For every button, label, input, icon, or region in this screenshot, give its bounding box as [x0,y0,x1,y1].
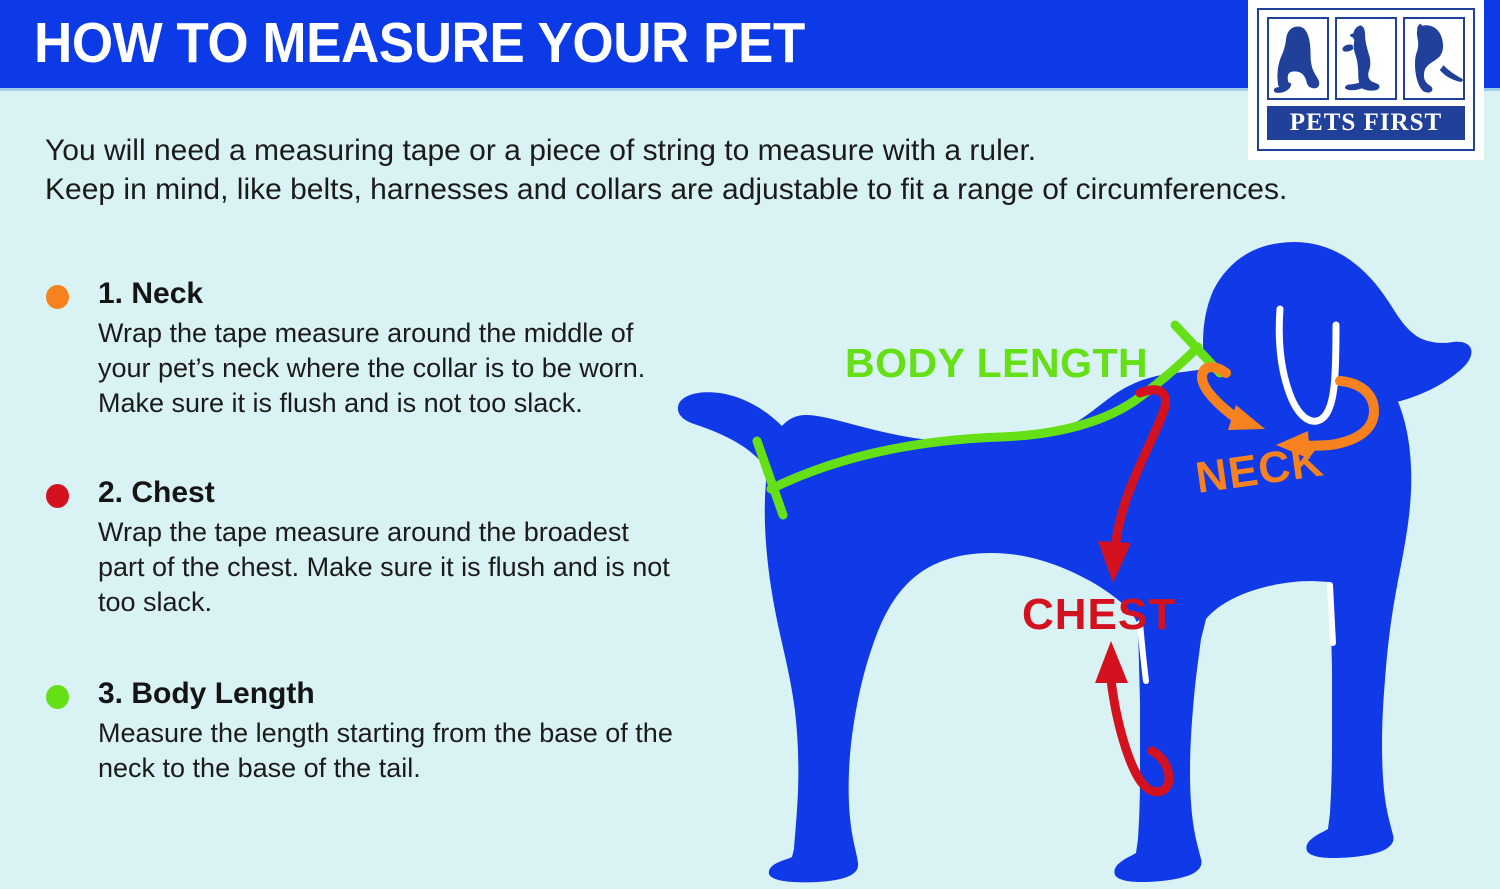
step-body-line: part of the chest. Make sure it is flush… [98,550,684,585]
begging-dog-silhouette-panel [1335,17,1397,100]
step-body-line: Wrap the tape measure around the broades… [98,515,684,550]
sitting-dog-silhouette-panel [1267,17,1329,100]
step-body-line: Make sure it is flush and is not too sla… [98,386,684,421]
logo-frame: PETS FIRST [1257,8,1475,151]
page-title: HOW TO MEASURE YOUR PET [34,12,805,74]
step-item-neck: 1. Neck Wrap the tape measure around the… [44,276,684,421]
step-body-line: too slack. [98,585,684,620]
chest-arrow-head-up [1095,641,1128,683]
measurement-steps-list: 1. Neck Wrap the tape measure around the… [44,276,684,786]
intro-line-1: You will need a measuring tape or a piec… [45,131,1335,170]
step-bullet-body-length [46,685,69,709]
step-bullet-chest [46,484,69,508]
body-length-label: BODY LENGTH [845,340,1148,386]
begging-dog-icon [1337,19,1395,98]
standing-dog-silhouette-panel [1403,17,1465,100]
step-body-line: neck to the base of the tail. [98,751,684,786]
step-item-body-length: 3. Body Length Measure the length starti… [44,676,684,786]
step-body-chest: Wrap the tape measure around the broades… [98,515,684,620]
infographic-page: HOW TO MEASURE YOUR PET [0,0,1500,889]
logo-panels [1267,17,1465,100]
standing-dog-icon [1405,19,1463,98]
step-item-chest: 2. Chest Wrap the tape measure around th… [44,475,684,620]
rear-haunch-crease [1330,585,1333,643]
chest-label: CHEST [1022,590,1176,639]
step-title-body-length: 3. Body Length [98,676,684,712]
dog-measurement-diagram: BODY LENGTH NECK CHEST [640,225,1500,889]
step-body-line: Measure the length starting from the bas… [98,716,684,751]
step-bullet-neck [46,285,69,309]
dog-diagram-svg: BODY LENGTH NECK CHEST [640,225,1500,889]
step-title-chest: 2. Chest [98,475,684,511]
step-title-neck: 1. Neck [98,276,684,312]
step-body-neck: Wrap the tape measure around the middle … [98,316,684,421]
intro-paragraph: You will need a measuring tape or a piec… [45,131,1335,209]
step-body-body-length: Measure the length starting from the bas… [98,716,684,786]
step-body-line: your pet’s neck where the collar is to b… [98,351,684,386]
step-body-line: Wrap the tape measure around the middle … [98,316,684,351]
sitting-dog-icon [1269,19,1327,98]
intro-line-2: Keep in mind, like belts, harnesses and … [45,170,1335,209]
dog-silhouette [678,242,1472,882]
